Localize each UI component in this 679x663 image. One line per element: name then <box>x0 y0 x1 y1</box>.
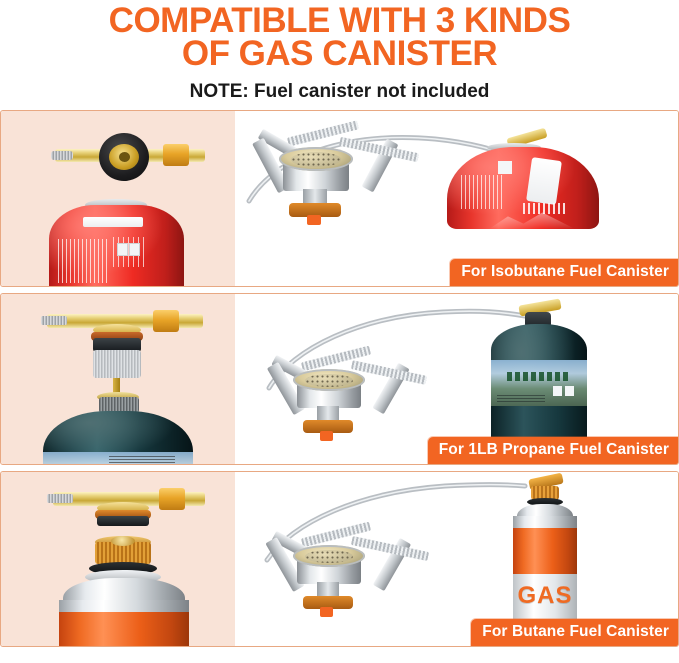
panel-propane: For 1LB Propane Fuel Canister <box>0 293 679 465</box>
butane-cartridge-body <box>59 612 189 646</box>
cylinder-warning-text <box>109 454 175 463</box>
adapter-black-oring-icon <box>97 516 149 526</box>
cylinder-icon-box-1 <box>553 386 562 396</box>
header: COMPATIBLE WITH 3 KINDS OF GAS CANISTER … <box>0 0 679 103</box>
note-text: NOTE: Fuel canister not included <box>0 81 679 103</box>
title-line-2: OF GAS CANISTER <box>10 37 669 70</box>
adapter-orange-knob-icon <box>153 310 179 332</box>
adapter-threaded-tip-icon <box>51 151 73 160</box>
adapter-threaded-tip-icon <box>41 316 67 325</box>
propane-closeup-photo <box>1 294 235 464</box>
stove-burner-holes <box>305 374 353 387</box>
canister-top-label <box>83 217 143 227</box>
panel-butane: GAS For Butane Fuel Canister <box>0 471 679 647</box>
canister-white-label <box>526 157 562 205</box>
stove-ignition-lever <box>320 431 333 441</box>
butane-closeup-photo <box>1 472 235 646</box>
panel-list: For Isobutane Fuel Canister <box>0 110 679 653</box>
cartridge-valve-port <box>111 536 135 546</box>
valve-center-port-icon <box>119 152 130 162</box>
cylinder-fine-print <box>497 394 545 402</box>
cylinder-icon-box-2 <box>565 386 574 396</box>
adapter-threaded-tip-icon <box>47 494 73 503</box>
badge-propane: For 1LB Propane Fuel Canister <box>428 437 678 464</box>
cylinder-brand-text <box>507 372 571 381</box>
adapter-orange-knob-icon <box>163 144 189 166</box>
canister-qr-code <box>498 161 512 174</box>
stove-ignition-lever <box>307 215 321 225</box>
badge-isobutane: For Isobutane Fuel Canister <box>450 259 678 286</box>
canister-icon-box-2 <box>129 243 140 256</box>
canister-text-lines <box>461 175 505 209</box>
canister-text-block-left <box>58 239 108 283</box>
page-title: COMPATIBLE WITH 3 KINDS OF GAS CANISTER <box>0 4 679 70</box>
stove-burner-holes <box>291 152 341 167</box>
cartridge-gas-text: GAS <box>513 582 577 610</box>
knurled-coupler-icon <box>93 350 141 378</box>
badge-butane: For Butane Fuel Canister <box>471 619 678 646</box>
adapter-orange-knob-icon <box>159 488 185 510</box>
canister-brand-text <box>523 203 567 214</box>
stove-burner-holes <box>305 550 353 563</box>
stove-ignition-lever <box>320 607 333 617</box>
cartridge-orange-band <box>513 528 577 574</box>
canister-icon-box-1 <box>117 243 128 256</box>
panel-isobutane: For Isobutane Fuel Canister <box>0 110 679 287</box>
isobutane-closeup-photo <box>1 111 235 286</box>
